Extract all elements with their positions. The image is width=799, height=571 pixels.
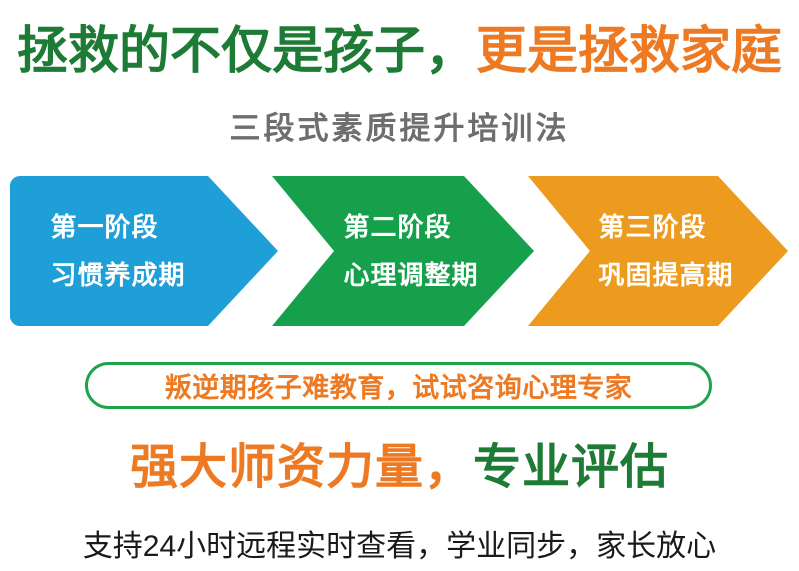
- headline: 拯救的不仅是孩子，更是拯救家庭: [0, 22, 799, 81]
- promo-poster: 拯救的不仅是孩子，更是拯救家庭 三段式素质提升培训法 第一阶段 习惯养成期 第二…: [0, 0, 799, 571]
- stage-3-chevron[interactable]: 第三阶段 巩固提高期: [528, 176, 788, 326]
- stage-1-line2: 习惯养成期: [50, 262, 185, 288]
- footnote: 支持24小时远程实时查看，学业同步，家长放心: [0, 521, 799, 565]
- stage-1-line1: 第一阶段: [50, 214, 185, 240]
- stage-2-text: 第二阶段 心理调整期: [343, 214, 478, 288]
- headline-orange-text: 更是拯救家庭: [476, 22, 782, 79]
- stage-2-line1: 第二阶段: [343, 214, 478, 240]
- cta-green-text: 专业评估: [473, 441, 669, 494]
- cta-orange-text: 强大师资力量，: [130, 441, 473, 494]
- stage-2-line2: 心理调整期: [343, 262, 478, 288]
- subtitle: 三段式素质提升培训法: [0, 103, 799, 148]
- stage-1-text: 第一阶段 习惯养成期: [50, 214, 185, 288]
- cta-heading: 强大师资力量，专业评估: [0, 440, 799, 495]
- consult-callout-text: 叛逆期孩子难教育，试试咨询心理专家: [165, 366, 633, 405]
- stage-chevron-row: 第一阶段 习惯养成期 第二阶段 心理调整期 第三阶段 巩固提高期: [0, 176, 799, 326]
- consult-callout-pill[interactable]: 叛逆期孩子难教育，试试咨询心理专家: [85, 362, 712, 409]
- stage-2-chevron[interactable]: 第二阶段 心理调整期: [272, 176, 534, 326]
- stage-3-line2: 巩固提高期: [598, 262, 733, 288]
- stage-1-chevron[interactable]: 第一阶段 习惯养成期: [10, 176, 278, 326]
- stage-3-text: 第三阶段 巩固提高期: [598, 214, 733, 288]
- stage-3-line1: 第三阶段: [598, 214, 733, 240]
- headline-green-text: 拯救的不仅是孩子，: [17, 22, 476, 79]
